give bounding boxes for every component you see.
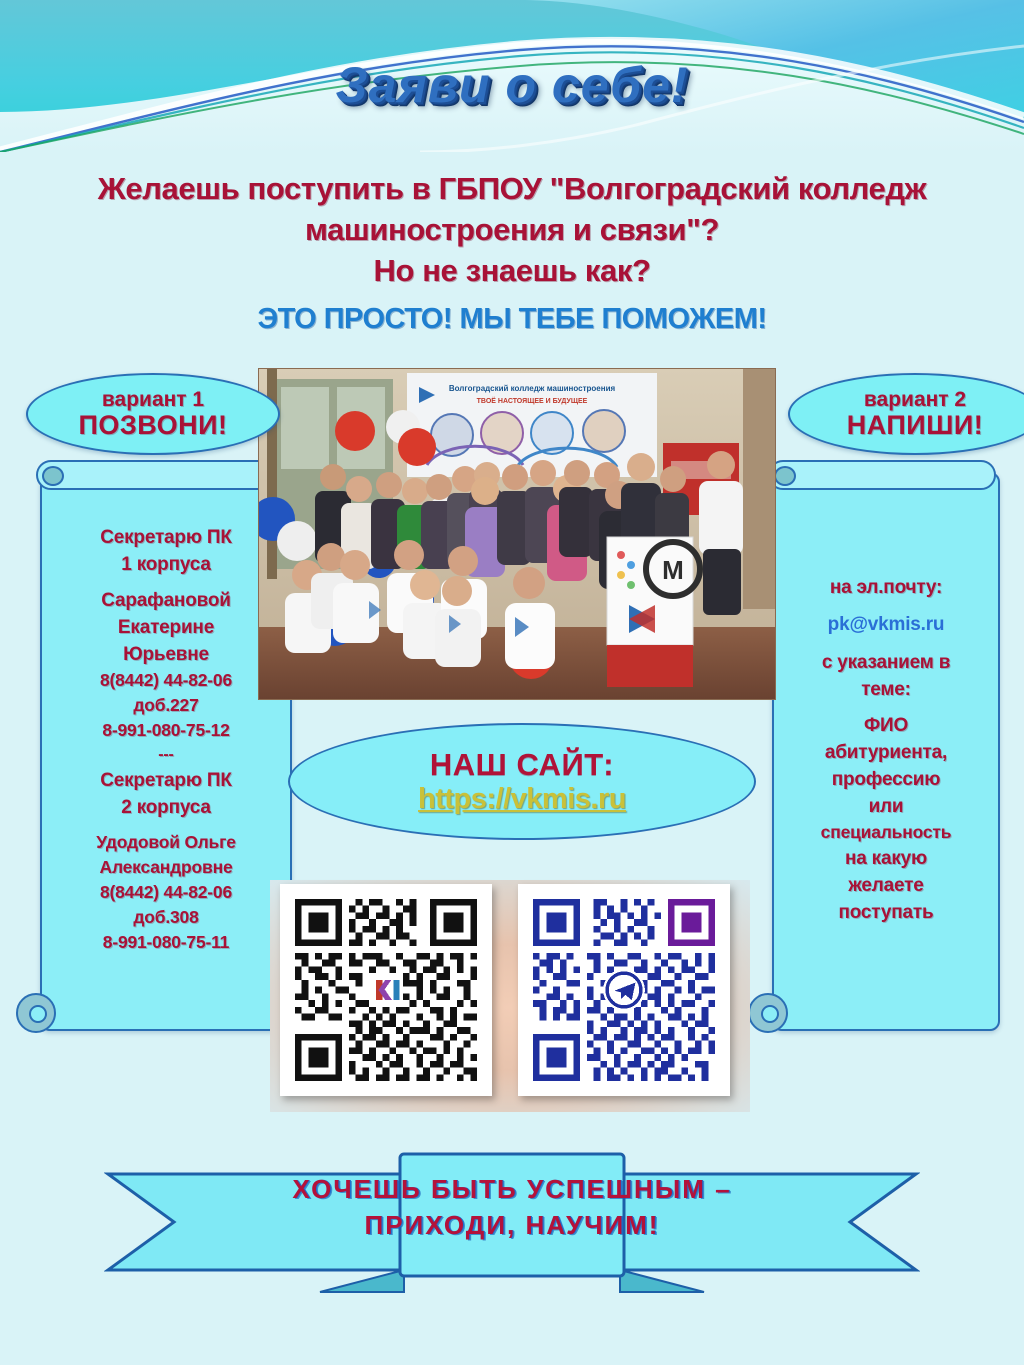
subject-intro-line: теме: bbox=[784, 676, 988, 703]
email-address[interactable]: pk@vkmis.ru bbox=[784, 610, 988, 640]
contact-line: Секретарю ПК bbox=[52, 524, 280, 551]
contact-line: Удодовой Ольге bbox=[52, 830, 280, 855]
subject-item: абитуриента, bbox=[784, 739, 988, 766]
contact-phone[interactable]: 8(8442) 44-82-06 bbox=[52, 668, 280, 693]
contact-panel-email-body: на эл.почту: pk@vkmis.ru с указанием в т… bbox=[774, 500, 998, 1025]
contact-line: Александровне bbox=[52, 855, 280, 880]
intro-line-3: Но не знаешь как? bbox=[0, 250, 1024, 291]
variant-left-action: ПОЗВОНИ! bbox=[78, 411, 227, 440]
contact-line: 2 корпуса bbox=[52, 794, 280, 821]
svg-text:Волгоградский колледж машиност: Волгоградский колледж машиностроения bbox=[449, 384, 616, 393]
variant-left-number: вариант 1 bbox=[102, 388, 204, 411]
subject-item: или bbox=[784, 793, 988, 820]
variant-right-action: НАПИШИ! bbox=[847, 411, 983, 440]
subject-item: ФИО bbox=[784, 712, 988, 739]
scroll-roll-top-right bbox=[768, 460, 996, 490]
email-label: на эл.почту: bbox=[784, 574, 988, 601]
variant-badge-call[interactable]: вариант 1 ПОЗВОНИ! bbox=[26, 373, 280, 455]
promise-text: ЭТО ПРОСТО! МЫ ТЕБЕ ПОМОЖЕМ! bbox=[0, 303, 1024, 336]
contact-mobile[interactable]: 8-991-080-75-11 bbox=[52, 930, 280, 955]
contact-line: Юрьевне bbox=[52, 641, 280, 668]
contact-panel-email: на эл.почту: pk@vkmis.ru с указанием в т… bbox=[772, 472, 1000, 1031]
qr-code-telegram[interactable] bbox=[518, 884, 730, 1096]
contact-separator: --- bbox=[52, 743, 280, 767]
subject-intro-line: с указанием в bbox=[784, 649, 988, 676]
svg-text:ТВОЁ НАСТОЯЩЕЕ И БУДУЩЕЕ: ТВОЁ НАСТОЯЩЕЕ И БУДУЩЕЕ bbox=[477, 397, 588, 405]
website-label: НАШ САЙТ: bbox=[430, 748, 614, 782]
poster-root: Заяви о себе! Желаешь поступить в ГБПОУ … bbox=[0, 0, 1024, 1365]
contact-mobile[interactable]: 8-991-080-75-12 bbox=[52, 718, 280, 743]
contact-panel-phone-body: Секретарю ПК 1 корпуса Сарафановой Екате… bbox=[42, 500, 290, 1025]
contact-ext: доб.227 bbox=[52, 693, 280, 718]
contact-panel-phone: Секретарю ПК 1 корпуса Сарафановой Екате… bbox=[40, 472, 292, 1031]
page-title: Заяви о себе! bbox=[0, 56, 1024, 114]
contact-phone[interactable]: 8(8442) 44-82-06 bbox=[52, 880, 280, 905]
subject-item: профессию bbox=[784, 766, 988, 793]
subject-item: на какую bbox=[784, 845, 988, 872]
intro-line-2: машиностроения и связи"? bbox=[0, 209, 1024, 250]
scroll-roll-top-left bbox=[36, 460, 288, 490]
ribbon-line-1: ХОЧЕШЬ БЫТЬ УСПЕШНЫМ – bbox=[292, 1174, 731, 1204]
contact-line: 1 корпуса bbox=[52, 551, 280, 578]
contact-line: Сарафановой bbox=[52, 587, 280, 614]
group-photo: Волгоградский колледж машиностроения ТВО… bbox=[258, 368, 776, 700]
ribbon-line-2: ПРИХОДИ, НАУЧИМ! bbox=[365, 1210, 660, 1240]
svg-text:M: M bbox=[662, 555, 684, 585]
contact-line: Секретарю ПК bbox=[52, 767, 280, 794]
ribbon-slogan: ХОЧЕШЬ БЫТЬ УСПЕШНЫМ – ПРИХОДИ, НАУЧИМ! bbox=[0, 1171, 1024, 1243]
website-url[interactable]: https://vkmis.ru bbox=[418, 782, 626, 816]
qr-code-vk[interactable] bbox=[280, 884, 492, 1096]
subject-item: специальность bbox=[784, 820, 988, 845]
subject-item: поступать bbox=[784, 899, 988, 926]
intro-line-1: Желаешь поступить в ГБПОУ "Волгоградский… bbox=[0, 168, 1024, 209]
variant-badge-write[interactable]: вариант 2 НАПИШИ! bbox=[788, 373, 1024, 455]
contact-ext: доб.308 bbox=[52, 905, 280, 930]
contact-line: Екатерине bbox=[52, 614, 280, 641]
subject-item: желаете bbox=[784, 872, 988, 899]
website-badge[interactable]: НАШ САЙТ: https://vkmis.ru bbox=[288, 723, 756, 840]
variant-right-number: вариант 2 bbox=[864, 388, 966, 411]
